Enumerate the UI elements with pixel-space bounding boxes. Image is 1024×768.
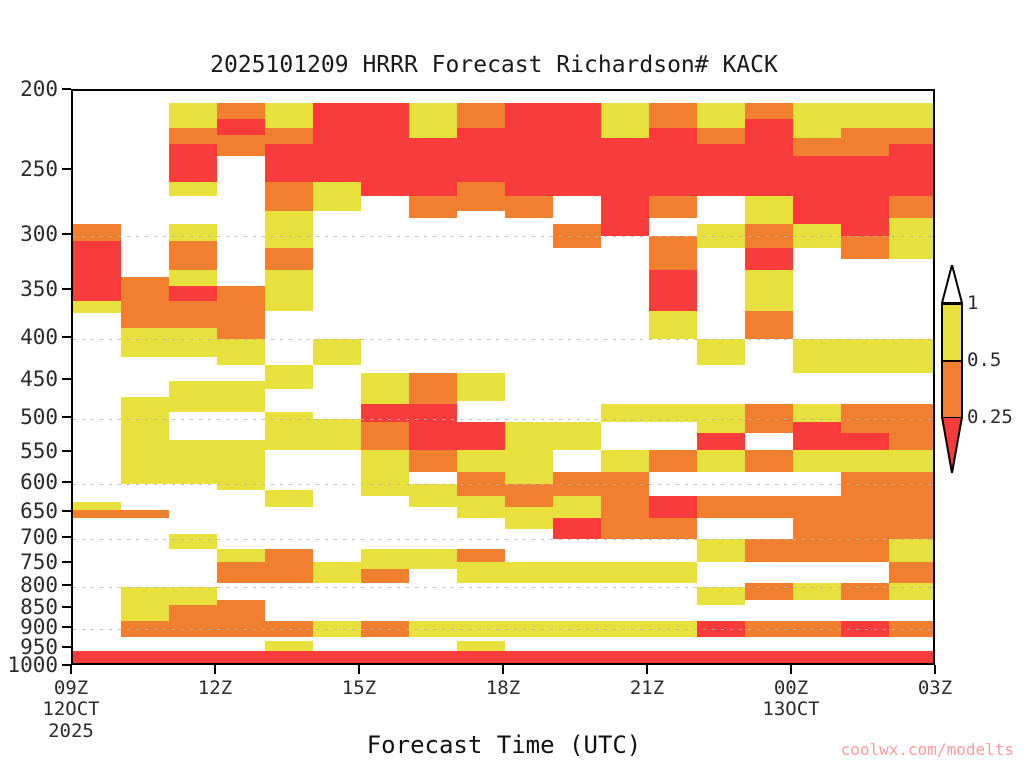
- heatmap-cell: [745, 119, 793, 196]
- heatmap-cell: [409, 404, 457, 422]
- heatmap-cell: [457, 128, 505, 182]
- heatmap-cell: [361, 621, 409, 637]
- heatmap-cell: [169, 224, 217, 241]
- heatmap-cell: [889, 583, 935, 601]
- heatmap-cell: [841, 404, 889, 433]
- colorbar-segment: [941, 303, 963, 360]
- heatmap-cell: [313, 621, 361, 637]
- heatmap-cell: [553, 472, 601, 496]
- heatmap-cell: [553, 224, 601, 248]
- heatmap-cell: [697, 128, 745, 144]
- heatmap-cell: [265, 621, 313, 637]
- heatmap-cell: [601, 404, 649, 422]
- heatmap-cell: [793, 224, 841, 248]
- heatmap-cell: [889, 472, 935, 496]
- heatmap-cell: [649, 103, 697, 128]
- heatmap-cell: [457, 472, 505, 496]
- heatmap-cells: [73, 91, 933, 663]
- heatmap-cell: [649, 236, 697, 270]
- heatmap-cell: [601, 472, 649, 496]
- heatmap-cell: [745, 583, 793, 601]
- heatmap-cell: [601, 496, 649, 518]
- heatmap-cell: [217, 103, 265, 118]
- heatmap-cell: [409, 450, 457, 472]
- heatmap-cell: [889, 539, 935, 561]
- heatmap-cell: [793, 496, 841, 539]
- y-axis-label: 500: [0, 407, 58, 428]
- heatmap-cell: [457, 182, 505, 211]
- heatmap-cell: [313, 182, 361, 211]
- x-axis-label: 21Z: [587, 678, 707, 699]
- y-axis-label: 800: [0, 575, 58, 596]
- heatmap-cell: [553, 496, 601, 518]
- x-axis-tick: [70, 665, 72, 674]
- heatmap-cell: [841, 339, 889, 373]
- heatmap-cell: [745, 196, 793, 224]
- heatmap-cell: [457, 422, 505, 449]
- x-axis-label: 12Z: [155, 678, 275, 699]
- y-axis-tick: [62, 584, 71, 586]
- heatmap-cell: [841, 433, 889, 450]
- heatmap-cell: [265, 103, 313, 128]
- heatmap-cell: [841, 583, 889, 601]
- heatmap-cell: [121, 510, 169, 518]
- heatmap-cell: [265, 248, 313, 270]
- y-axis-label: 400: [0, 327, 58, 348]
- y-axis-tick: [62, 626, 71, 628]
- x-axis-tick: [646, 665, 648, 674]
- heatmap-cell: [265, 569, 313, 583]
- heatmap-cell: [601, 450, 649, 472]
- y-axis-label: 200: [0, 79, 58, 100]
- heatmap-cell: [649, 621, 697, 637]
- heatmap-cell: [841, 128, 889, 156]
- heatmap-cell: [217, 119, 265, 135]
- heatmap-cell: [793, 583, 841, 601]
- heatmap-cell: [649, 128, 697, 195]
- heatmap-cell: [793, 422, 841, 449]
- heatmap-cell: [457, 450, 505, 472]
- heatmap-cell: [73, 502, 121, 510]
- heatmap-cell: [361, 422, 409, 449]
- heatmap-cell: [793, 103, 841, 138]
- heatmap-cell: [697, 621, 745, 637]
- heatmap-cell: [217, 600, 265, 621]
- heatmap-cell: [409, 484, 457, 507]
- heatmap-cell: [793, 339, 841, 373]
- y-axis-tick: [62, 378, 71, 380]
- y-axis-label: 350: [0, 279, 58, 300]
- chart-canvas: 2025101209 HRRR Forecast Richardson# KAC…: [0, 0, 1024, 768]
- heatmap-cell: [553, 562, 601, 583]
- heatmap-cell: [409, 196, 457, 218]
- heatmap-cell: [841, 496, 889, 539]
- heatmap-cell: [313, 103, 361, 182]
- richardson-number-colorbar: 10.50.25: [941, 303, 963, 473]
- x-axis-tick: [502, 665, 504, 674]
- heatmap-cell: [409, 549, 457, 568]
- heatmap-cell: [313, 339, 361, 365]
- y-axis-label: 700: [0, 527, 58, 548]
- heatmap-cell: [697, 404, 745, 433]
- heatmap-cell: [169, 328, 217, 356]
- heatmap-cell: [361, 373, 409, 404]
- y-axis-tick: [62, 450, 71, 452]
- heatmap-cell: [505, 621, 553, 637]
- heatmap-cell: [361, 404, 409, 422]
- heatmap-cell: [601, 621, 649, 637]
- heatmap-cell: [265, 182, 313, 211]
- heatmap-cell: [121, 277, 169, 328]
- heatmap-cell: [553, 518, 601, 539]
- heatmap-cell: [601, 103, 649, 138]
- heatmap-cell: [697, 496, 745, 518]
- heatmap-cell: [841, 472, 889, 496]
- heatmap-cell: [505, 450, 553, 484]
- heatmap-cell: [697, 433, 745, 450]
- heatmap-cell: [745, 311, 793, 339]
- heatmap-cell: [889, 621, 935, 637]
- heatmap-cell: [361, 450, 409, 472]
- heatmap-cell: [409, 138, 457, 196]
- heatmap-cell: [409, 103, 457, 138]
- y-axis-tick: [62, 561, 71, 563]
- heatmap-cell: [121, 587, 169, 621]
- heatmap-cell: [409, 621, 457, 637]
- heatmap-cell: [457, 549, 505, 561]
- heatmap-cell: [265, 211, 313, 247]
- heatmap-cell: [361, 103, 409, 195]
- heatmap-cell: [505, 562, 553, 583]
- x-axis-label: 15Z: [299, 678, 419, 699]
- x-axis-label: 00Z 13OCT: [731, 678, 851, 721]
- y-axis-tick: [62, 416, 71, 418]
- heatmap-cell: [649, 270, 697, 311]
- heatmap-cell: [889, 450, 935, 472]
- heatmap-cell: [841, 621, 889, 637]
- x-axis-title-text: Forecast Time (UTC): [367, 731, 642, 759]
- heatmap-cell: [841, 450, 889, 472]
- y-axis-label: 450: [0, 369, 58, 390]
- heatmap-cell: [217, 549, 265, 561]
- heatmap-cell: [169, 241, 217, 270]
- x-axis-label: 18Z: [443, 678, 563, 699]
- heatmap-cell: [601, 518, 649, 539]
- heatmap-cell: [217, 562, 265, 583]
- y-axis-tick: [62, 481, 71, 483]
- heatmap-cell: [745, 270, 793, 311]
- heatmap-cell: [265, 365, 313, 389]
- heatmap-cell: [841, 156, 889, 236]
- heatmap-cell: [793, 621, 841, 637]
- heatmap-cell: [169, 182, 217, 196]
- heatmap-cell: [697, 339, 745, 365]
- y-axis-label: 750: [0, 552, 58, 573]
- heatmap-cell: [121, 621, 169, 637]
- heatmap-cell: [793, 450, 841, 472]
- heatmap-cell: [505, 507, 553, 529]
- y-axis-tick: [62, 510, 71, 512]
- terrain-separator: [73, 664, 935, 665]
- heatmap-cell: [217, 135, 265, 157]
- heatmap-cell: [169, 621, 217, 637]
- heatmap-cell: [889, 128, 935, 144]
- heatmap-cell: [793, 539, 841, 561]
- heatmap-cell: [73, 224, 121, 241]
- heatmap-cell: [169, 605, 217, 622]
- heatmap-cell: [457, 103, 505, 128]
- heatmap-cell: [697, 539, 745, 561]
- y-axis-label: 650: [0, 501, 58, 522]
- heatmap-cell: [169, 103, 217, 128]
- colorbar-divider: [941, 360, 963, 362]
- heatmap-cell: [841, 236, 889, 259]
- heatmap-cell: [745, 248, 793, 270]
- heatmap-cell: [505, 103, 553, 195]
- heatmap-cell: [217, 316, 265, 339]
- heatmap-cell: [409, 422, 457, 449]
- heatmap-cell: [121, 328, 169, 356]
- terrain-block: [889, 663, 935, 665]
- heatmap-cell: [217, 440, 265, 490]
- colorbar-upper-arrow-outline: [941, 265, 963, 305]
- site-watermark: coolwx.com/modelts: [841, 740, 1014, 759]
- heatmap-cell: [313, 562, 361, 583]
- heatmap-cell: [745, 539, 793, 561]
- heatmap-cell: [409, 373, 457, 404]
- heatmap-cell: [745, 450, 793, 472]
- x-axis-tick: [934, 665, 936, 674]
- heatmap-cell: [793, 156, 841, 224]
- surface-red-band: [73, 651, 935, 665]
- heatmap-plot-area: [71, 89, 935, 665]
- y-axis-tick: [62, 168, 71, 170]
- x-axis-label: 03Z: [875, 678, 995, 699]
- heatmap-cell: [553, 422, 601, 449]
- heatmap-cell: [889, 496, 935, 539]
- heatmap-cell: [313, 419, 361, 450]
- heatmap-cell: [601, 562, 649, 583]
- heatmap-cell: [169, 301, 217, 328]
- heatmap-cell: [601, 138, 649, 236]
- heatmap-cell: [361, 549, 409, 568]
- heatmap-cell: [889, 404, 935, 449]
- heatmap-cell: [649, 518, 697, 539]
- heatmap-cell: [169, 440, 217, 484]
- heatmap-cell: [217, 381, 265, 411]
- heatmap-cell: [265, 128, 313, 144]
- heatmap-cell: [553, 621, 601, 637]
- y-axis-tick: [62, 336, 71, 338]
- heatmap-cell: [841, 103, 889, 128]
- y-axis-tick: [62, 288, 71, 290]
- heatmap-cell: [457, 562, 505, 583]
- chart-title-text: 2025101209 HRRR Forecast Richardson# KAC…: [210, 52, 778, 78]
- heatmap-cell: [649, 311, 697, 339]
- heatmap-cell: [505, 196, 553, 218]
- heatmap-cell: [649, 404, 697, 422]
- colorbar-divider: [941, 303, 963, 305]
- heatmap-cell: [889, 562, 935, 583]
- y-axis-label: 300: [0, 224, 58, 245]
- heatmap-cell: [169, 534, 217, 549]
- y-axis-label: 600: [0, 472, 58, 493]
- x-axis-tick: [790, 665, 792, 674]
- y-axis-tick: [62, 606, 71, 608]
- heatmap-cell: [265, 549, 313, 568]
- heatmap-cell: [169, 144, 217, 182]
- heatmap-cell: [505, 484, 553, 507]
- heatmap-cell: [649, 196, 697, 218]
- colorbar-tick-label: 1: [967, 294, 978, 313]
- heatmap-cell: [649, 562, 697, 583]
- heatmap-cell: [265, 270, 313, 311]
- y-axis-label: 250: [0, 159, 58, 180]
- heatmap-cell: [217, 339, 265, 365]
- heatmap-cell: [889, 103, 935, 128]
- y-axis-tick: [62, 233, 71, 235]
- heatmap-cell: [793, 138, 841, 156]
- heatmap-cell: [505, 422, 553, 449]
- heatmap-cell: [649, 450, 697, 472]
- heatmap-cell: [745, 103, 793, 118]
- heatmap-cell: [361, 569, 409, 583]
- colorbar-tick-label: 0.5: [967, 351, 1001, 370]
- heatmap-cell: [457, 373, 505, 400]
- heatmap-cell: [841, 539, 889, 561]
- heatmap-cell: [889, 196, 935, 218]
- heatmap-cell: [697, 103, 745, 128]
- y-axis-label: 1000: [0, 655, 58, 676]
- heatmap-cell: [889, 218, 935, 259]
- heatmap-cell: [697, 450, 745, 472]
- y-axis-label: 550: [0, 441, 58, 462]
- terrain-block: [841, 663, 889, 665]
- colorbar-lower-arrow: [941, 417, 963, 475]
- heatmap-cell: [745, 496, 793, 518]
- heatmap-cell: [697, 587, 745, 604]
- colorbar-segment: [941, 360, 963, 417]
- heatmap-cell: [169, 587, 217, 604]
- chart-title: 2025101209 HRRR Forecast Richardson# KAC…: [0, 52, 1024, 78]
- heatmap-cell: [73, 241, 121, 302]
- heatmap-cell: [169, 286, 217, 301]
- colorbar-tick-label: 0.25: [967, 408, 1013, 427]
- heatmap-cell: [361, 472, 409, 496]
- heatmap-cell: [121, 440, 169, 484]
- heatmap-cell: [889, 339, 935, 373]
- y-axis-tick: [62, 646, 71, 648]
- heatmap-cell: [73, 510, 121, 518]
- heatmap-cell: [553, 103, 601, 195]
- heatmap-cell: [793, 404, 841, 422]
- heatmap-cell: [169, 128, 217, 144]
- heatmap-cell: [697, 224, 745, 248]
- y-axis-tick: [62, 88, 71, 90]
- heatmap-cell: [457, 496, 505, 518]
- heatmap-cell: [169, 270, 217, 286]
- heatmap-cell: [217, 286, 265, 316]
- heatmap-cell: [121, 397, 169, 440]
- heatmap-cell: [217, 621, 265, 637]
- x-axis-tick: [358, 665, 360, 674]
- heatmap-cell: [649, 496, 697, 518]
- heatmap-cell: [265, 144, 313, 182]
- heatmap-cell: [745, 404, 793, 433]
- heatmap-cell: [889, 144, 935, 196]
- heatmap-cell: [265, 490, 313, 507]
- heatmap-cell: [169, 381, 217, 411]
- heatmap-cell: [745, 224, 793, 248]
- heatmap-cell: [697, 144, 745, 196]
- heatmap-cell: [457, 621, 505, 637]
- heatmap-cell: [265, 412, 313, 450]
- x-axis-tick: [214, 665, 216, 674]
- heatmap-cell: [745, 621, 793, 637]
- y-axis-tick: [62, 536, 71, 538]
- heatmap-cell: [73, 301, 121, 313]
